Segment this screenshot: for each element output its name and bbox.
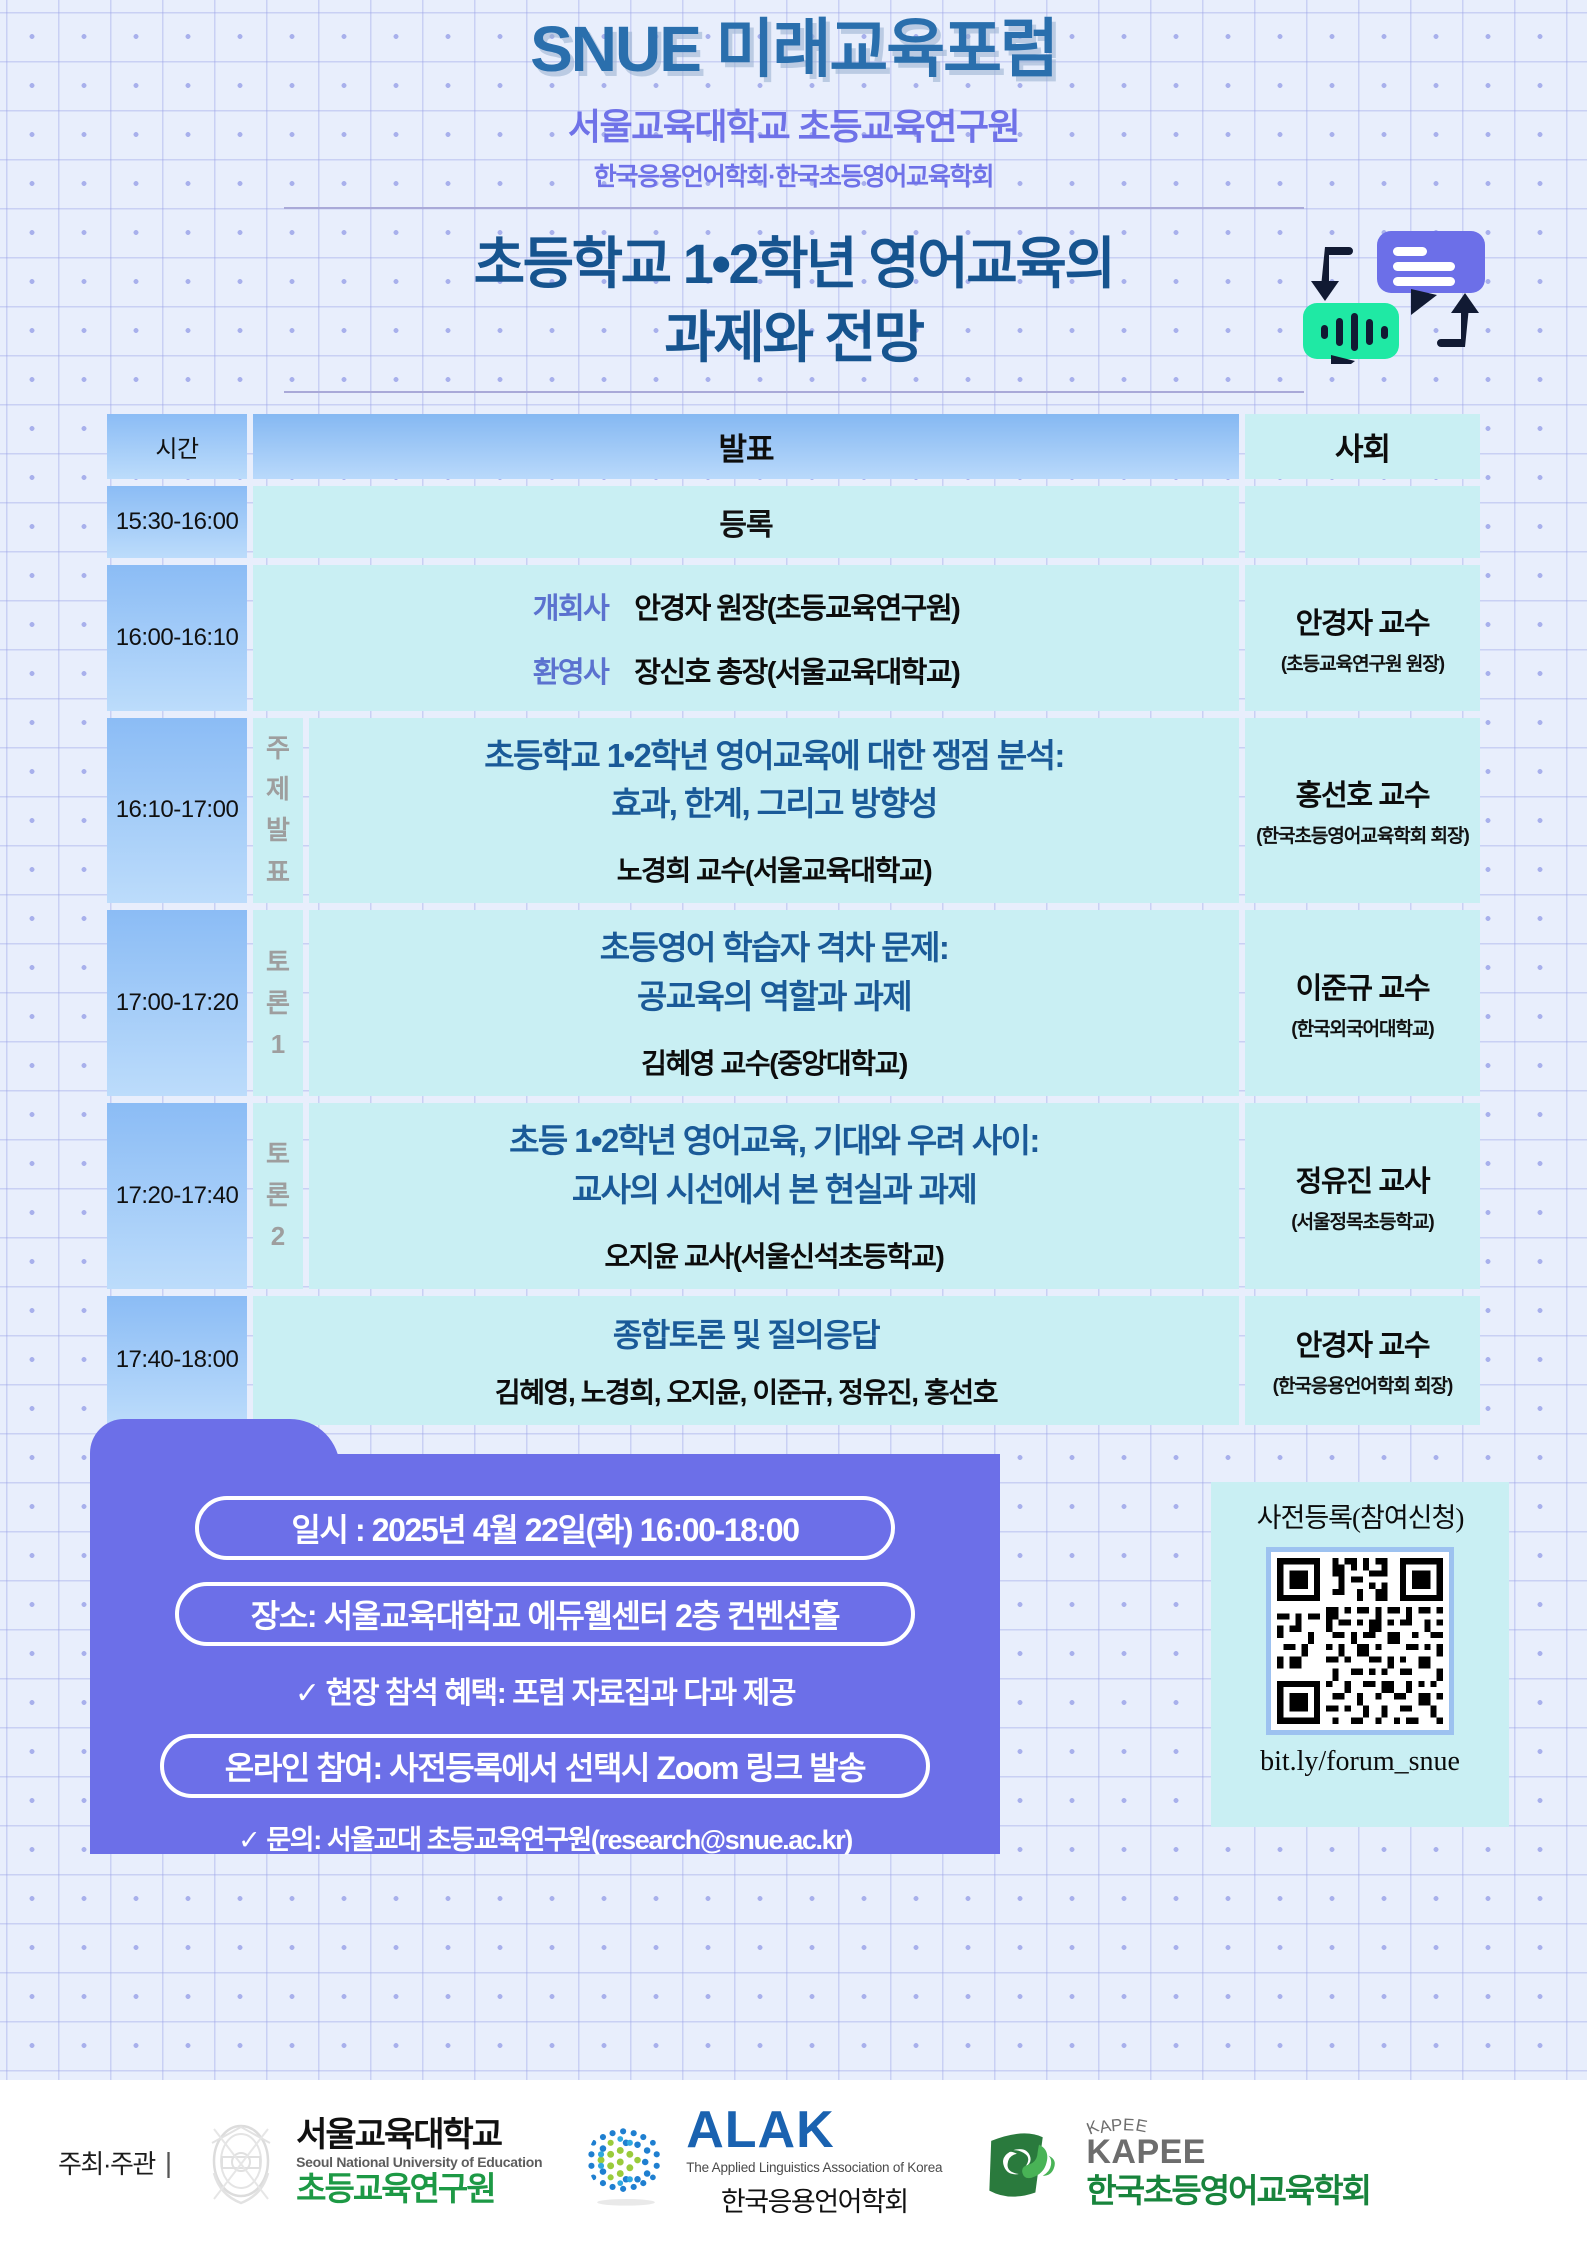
speech-bubble-exchange-icon (1289, 219, 1499, 364)
event-title-line-2: 과제와 전망 (294, 301, 1294, 375)
table-row: 17:40-18:00 종합토론 및 질의응답 김혜영, 노경희, 오지윤, 이… (107, 1296, 1480, 1425)
column-header-presentation: 발표 (253, 414, 1239, 479)
row-time: 17:00-17:20 (107, 910, 247, 1096)
alak-globe-icon (578, 2114, 674, 2210)
row-time: 17:20-17:40 (107, 1103, 247, 1289)
row-chair: 안경자 교수 (한국응용언어학회 회장) (1245, 1296, 1480, 1425)
row-time: 16:00-16:10 (107, 565, 247, 711)
table-row: 16:00-16:10 개회사 안경자 원장(초등교육연구원) 환영사 장신호 … (107, 565, 1480, 711)
vertical-label: 토론2 (255, 1134, 301, 1257)
alak-name-ko: 한국응용언어학회 (686, 2180, 942, 2219)
kapee-arc-text: KAPEE (1086, 2115, 1370, 2135)
event-title-line-1: 초등학교 1•2학년 영어교육의 (294, 227, 1294, 301)
chair-name: 홍선호 교수 (1251, 772, 1474, 814)
greeting-speaker: 안경자 원장(초등교육연구원) (634, 585, 959, 627)
row-chair: 안경자 교수 (초등교육연구원 원장) (1245, 565, 1480, 711)
greeting-label: 개회사 (533, 585, 609, 627)
check-icon: ✓ (238, 1825, 259, 1855)
chair-affiliation: (서울정목초등학교) (1251, 1207, 1474, 1234)
snue-emblem-icon (198, 2113, 284, 2213)
host-organization: 서울교육대학교 초등교육연구원 (0, 98, 1587, 150)
row-section-label: 토론1 (253, 910, 303, 1096)
contact-line: ✓문의: 서울교대 초등교육연구원(research@snue.ac.kr) (90, 1818, 1000, 1857)
column-header-chair: 사회 (1245, 414, 1480, 479)
row-content: 초등영어 학습자 격차 문제: 공교육의 역할과 과제 김혜영 교수(중앙대학교… (309, 910, 1239, 1096)
kapee-wordmark: KAPEE (1086, 2135, 1370, 2169)
row-content: 초등학교 1•2학년 영어교육에 대한 쟁점 분석: 효과, 한계, 그리고 방… (309, 718, 1239, 904)
row-chair: 홍선호 교수 (한국초등영어교육학회 회장) (1245, 718, 1480, 904)
table-row: 17:20-17:40 토론2 초등 1•2학년 영어교육, 기대와 우려 사이… (107, 1103, 1480, 1289)
chair-name: 정유진 교사 (1251, 1158, 1474, 1200)
snue-institute-ko: 초등교육연구원 (296, 2170, 542, 2208)
row-time: 17:40-18:00 (107, 1296, 247, 1425)
table-row: 15:30-16:00 등록 (107, 486, 1480, 558)
header-divider-bottom (0, 391, 1587, 393)
vertical-label: 주제발표 (255, 728, 301, 892)
footer-separator: | (165, 2147, 172, 2179)
poster-header: SNUE 미래교육포럼 서울교육대학교 초등교육연구원 한국응용언어학회·한국초… (0, 0, 1587, 393)
row-chair: 정유진 교사 (서울정목초등학교) (1245, 1103, 1480, 1289)
row-section-label: 토론2 (253, 1103, 303, 1289)
alak-name-en: The Applied Linguistics Association of K… (686, 2160, 942, 2175)
snue-name-en: Seoul National University of Education (296, 2154, 542, 2170)
poster-page: SNUE 미래교육포럼 서울교육대학교 초등교육연구원 한국응용언어학회·한국초… (0, 0, 1587, 2245)
row-content: 개회사 안경자 원장(초등교육연구원) 환영사 장신호 총장(서울교육대학교) (253, 565, 1239, 711)
kapee-name-ko: 한국초등영어교육학회 (1086, 2172, 1370, 2210)
row-content: 등록 (253, 486, 1239, 558)
chair-name: 안경자 교수 (1251, 600, 1474, 642)
session-presenter: 김혜영 교수(중앙대학교) (319, 1042, 1229, 1082)
benefit-text: 현장 참석 혜택: 포럼 자료집과 다과 제공 (326, 1677, 795, 1710)
bottom-info-area: 일시 : 2025년 4월 22일(화) 16:00-18:00 장소: 서울교… (0, 1454, 1587, 1884)
logo-snue: 서울교육대학교 Seoul National University of Edu… (198, 2113, 542, 2213)
session-title-line-2: 교사의 시선에서 본 현실과 과제 (319, 1166, 1229, 1215)
associations-line: 한국응용언어학회·한국초등영어교육학회 (0, 157, 1587, 193)
logo-alak: ALAK The Applied Linguistics Association… (578, 2106, 942, 2218)
event-title-block: 초등학교 1•2학년 영어교육의 과제와 전망 (0, 227, 1587, 375)
datetime-pill: 일시 : 2025년 4월 22일(화) 16:00-18:00 (195, 1496, 895, 1560)
column-header-time: 시간 (107, 414, 247, 479)
session-title-line-2: 효과, 한계, 그리고 방향성 (319, 780, 1229, 829)
snue-name-ko: 서울교육대학교 (296, 2117, 542, 2154)
row-time: 16:10-17:00 (107, 718, 247, 904)
contact-text: 문의: 서울교대 초등교육연구원(research@snue.ac.kr) (266, 1825, 852, 1855)
session-presenter: 노경희 교수(서울교육대학교) (319, 849, 1229, 889)
footer-logos: 주최·주관 | 서울교육대학교 Seoul National Universit… (0, 2080, 1587, 2245)
logo-kapee: KAPEE KAPEE 한국초등영어교육학회 (982, 2115, 1370, 2210)
alak-wordmark: ALAK (686, 2106, 942, 2155)
header-divider-top (0, 207, 1587, 209)
chair-affiliation: (한국응용언어학회 회장) (1251, 1371, 1474, 1398)
chair-affiliation: (초등교육연구원 원장) (1251, 649, 1474, 676)
registration-label: 등록 (263, 500, 1229, 544)
table-row: 16:10-17:00 주제발표 초등학교 1•2학년 영어교육에 대한 쟁점 … (107, 718, 1480, 904)
chair-affiliation: (한국외국어대학교) (1251, 1014, 1474, 1041)
table-row: 17:00-17:20 토론1 초등영어 학습자 격차 문제: 공교육의 역할과… (107, 910, 1480, 1096)
row-chair (1245, 486, 1480, 558)
session-title-line-1: 초등영어 학습자 격차 문제: (319, 924, 1229, 973)
row-time: 15:30-16:00 (107, 486, 247, 558)
qr-link-text[interactable]: bit.ly/forum_snue (1211, 1746, 1509, 1778)
venue-pill: 장소: 서울교육대학교 에듀웰센터 2층 컨벤션홀 (175, 1582, 915, 1646)
session-title-line-2: 공교육의 역할과 과제 (319, 973, 1229, 1022)
vertical-label: 토론1 (255, 942, 301, 1065)
session-title-line-1: 초등 1•2학년 영어교육, 기대와 우려 사이: (319, 1117, 1229, 1166)
event-info-panel: 일시 : 2025년 4월 22일(화) 16:00-18:00 장소: 서울교… (90, 1454, 1000, 1854)
panel-participants: 김혜영, 노경희, 오지윤, 이준규, 정유진, 홍선호 (263, 1371, 1229, 1411)
row-section-label: 주제발표 (253, 718, 303, 904)
qr-caption: 사전등록(참여신청) (1211, 1496, 1509, 1535)
online-pill: 온라인 참여: 사전등록에서 선택시 Zoom 링크 발송 (160, 1734, 930, 1798)
session-title-line-1: 초등학교 1•2학년 영어교육에 대한 쟁점 분석: (319, 732, 1229, 781)
row-chair: 이준규 교수 (한국외국어대학교) (1245, 910, 1480, 1096)
footer-label: 주최·주관 (58, 2144, 155, 2181)
row-content: 초등 1•2학년 영어교육, 기대와 우려 사이: 교사의 시선에서 본 현실과… (309, 1103, 1239, 1289)
chair-name: 이준규 교수 (1251, 965, 1474, 1007)
table-header-row: 시간 발표 사회 (107, 414, 1480, 479)
chair-affiliation: (한국초등영어교육학회 회장) (1251, 821, 1474, 848)
panel-tab-shape (90, 1419, 340, 1479)
check-icon: ✓ (295, 1677, 319, 1710)
row-content: 종합토론 및 질의응답 김혜영, 노경희, 오지윤, 이준규, 정유진, 홍선호 (253, 1296, 1239, 1425)
greeting-label: 환영사 (533, 649, 609, 691)
session-presenter: 오지윤 교사(서울신석초등학교) (319, 1235, 1229, 1275)
panel-title: 종합토론 및 질의응답 (263, 1310, 1229, 1356)
chair-name: 안경자 교수 (1251, 1322, 1474, 1364)
qr-code-icon[interactable] (1266, 1547, 1454, 1735)
brand-title: SNUE 미래교육포럼 (0, 16, 1587, 84)
benefit-line: ✓현장 참석 혜택: 포럼 자료집과 다과 제공 (90, 1668, 1000, 1712)
kapee-leaf-icon (982, 2117, 1074, 2209)
greeting-speaker: 장신호 총장(서울교육대학교) (634, 649, 959, 691)
qr-registration-block[interactable]: 사전등록(참여신청) (1211, 1482, 1509, 1827)
program-table: 시간 발표 사회 15:30-16:00 등록 16:00-16:10 개회사 (101, 407, 1486, 1432)
